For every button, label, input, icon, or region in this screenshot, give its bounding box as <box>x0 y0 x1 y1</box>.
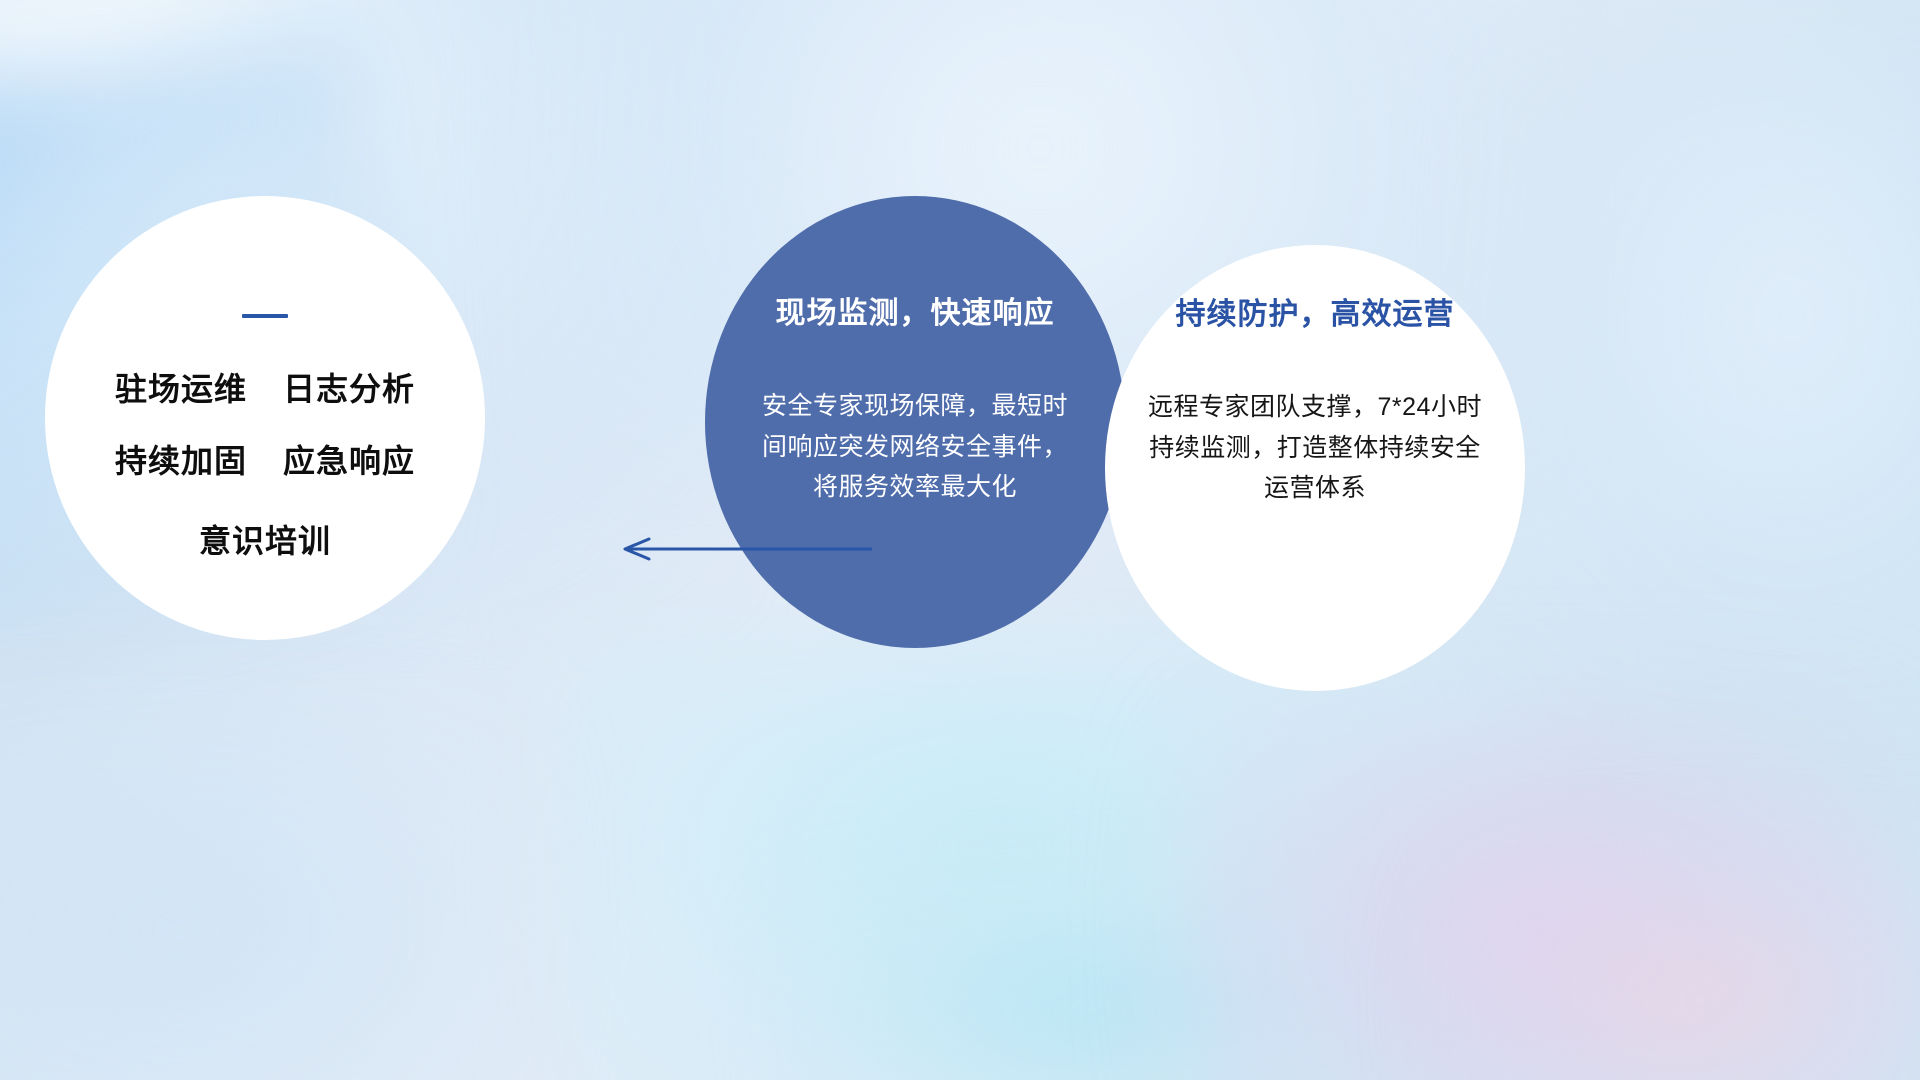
keyword-awareness-training: 意识培训 <box>199 516 331 562</box>
background-glow-pink-secondary <box>1440 840 1920 1080</box>
background-glow-bottom-left <box>0 700 540 1080</box>
left-circle-keyword-list: 驻场运维 日志分析 持续加固 应急响应 意识培训 <box>115 364 415 562</box>
background-glow-right <box>1480 60 1920 700</box>
middle-circle-title: 现场监测，快速响应 <box>776 288 1055 332</box>
right-circle-body: 远程专家团队支撑，7*24小时持续监测，打造整体持续安全运营体系 <box>1137 387 1493 509</box>
keyword-emergency-response: 应急响应 <box>283 436 415 482</box>
middle-circle-content: 现场监测，快速响应 安全专家现场保障，最短时间响应突发网络安全事件，将服务效率最… <box>705 196 1125 648</box>
right-circle-title: 持续防护，高效运营 <box>1176 289 1455 333</box>
middle-circle-body: 安全专家现场保障，最短时间响应突发网络安全事件，将服务效率最大化 <box>760 386 1070 508</box>
left-circle-row-2: 持续加固 应急响应 <box>115 436 415 482</box>
left-circle-content: 驻场运维 日志分析 持续加固 应急响应 意识培训 <box>45 196 485 640</box>
left-circle-row-3: 意识培训 <box>199 516 331 562</box>
keyword-continuous-hardening: 持续加固 <box>115 436 247 482</box>
keyword-log-analysis: 日志分析 <box>283 364 415 410</box>
left-circle-row-1: 驻场运维 日志分析 <box>115 364 415 410</box>
slide-canvas: 驻场运维 日志分析 持续加固 应急响应 意识培训 现场监测，快速响应 安全专家现… <box>0 0 1920 1080</box>
left-circle-divider-dash <box>242 314 288 318</box>
keyword-onsite-ops: 驻场运维 <box>115 364 247 410</box>
right-circle-content: 持续防护，高效运营 远程专家团队支撑，7*24小时持续监测，打造整体持续安全运营… <box>1105 245 1525 691</box>
